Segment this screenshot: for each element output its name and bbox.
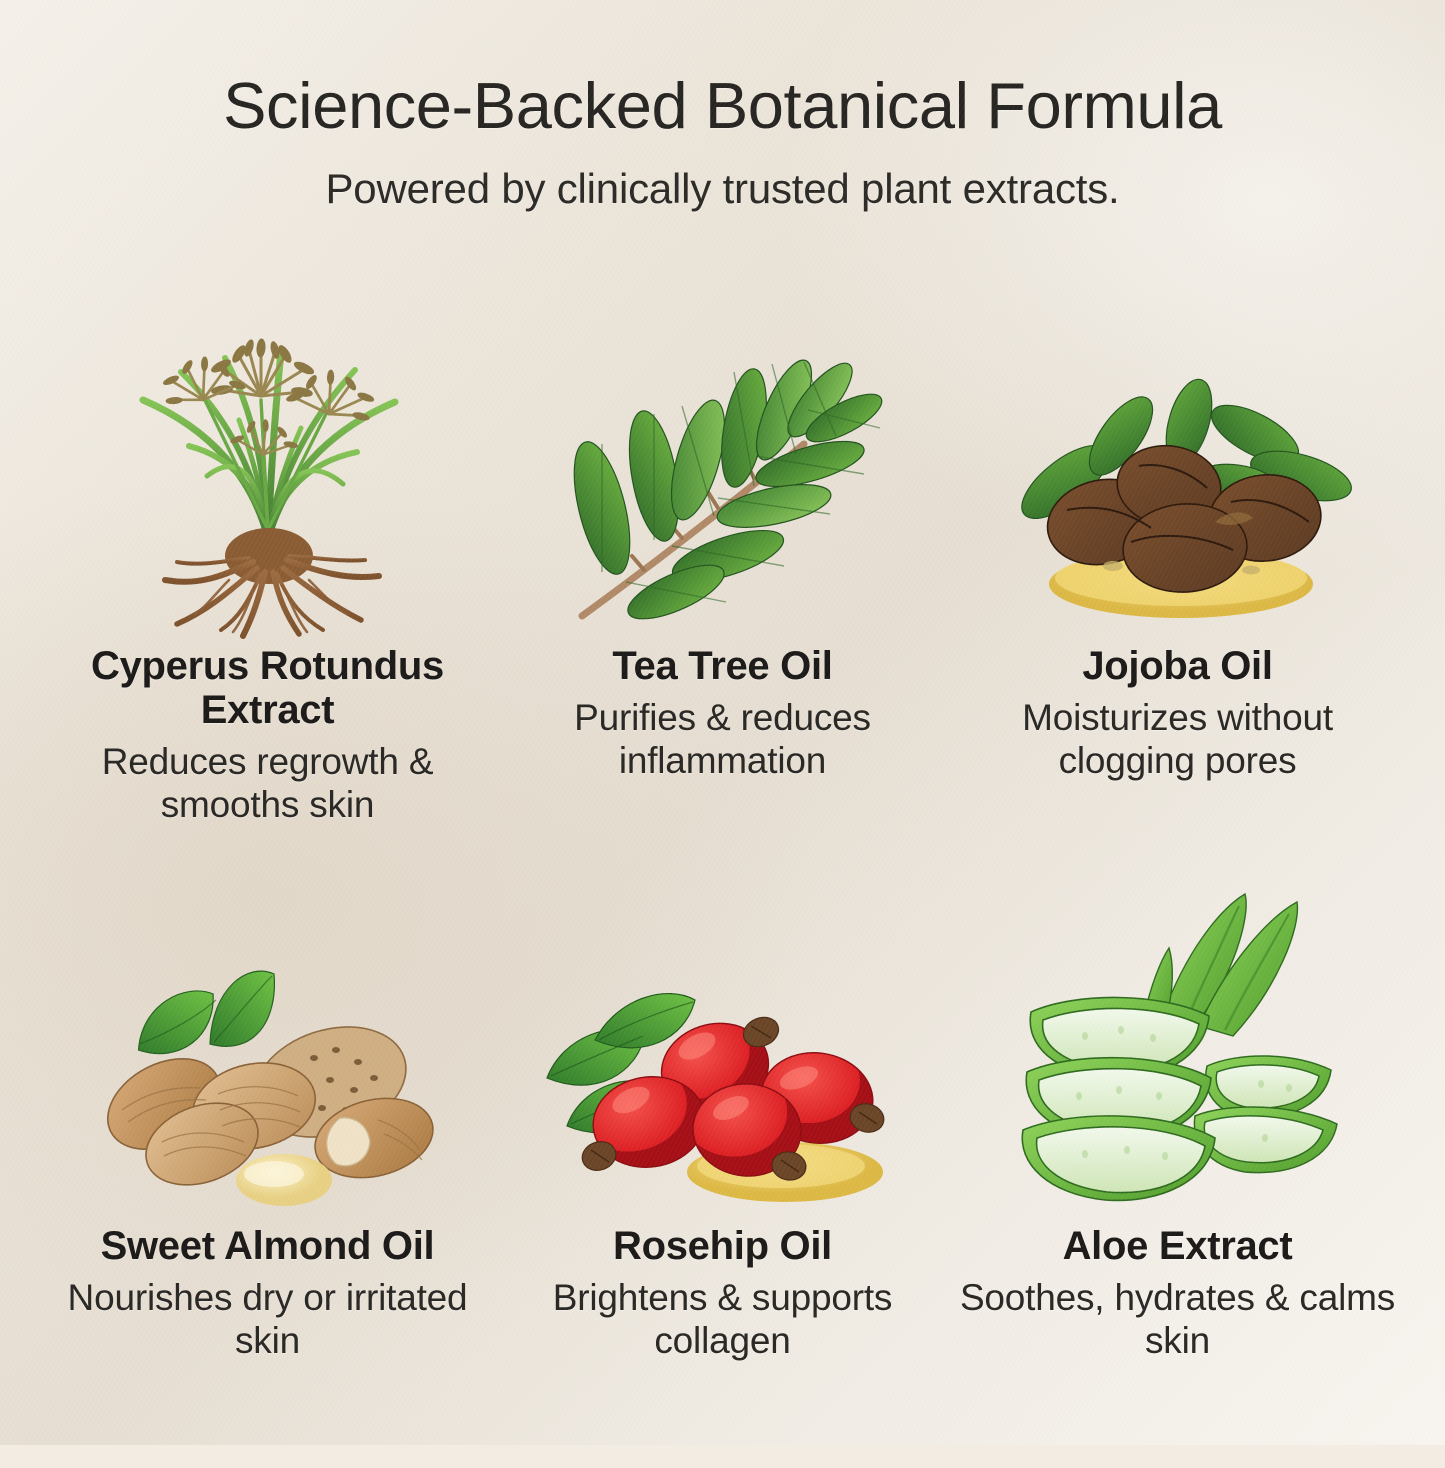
header: Science-Backed Botanical Formula Powered… [0,72,1445,213]
ingredient-card-sweet-almond-oil: Sweet Almond Oil Nourishes dry or irrita… [40,868,495,1468]
ingredient-name: Aloe Extract [1063,1224,1293,1268]
ingredient-grid: Cyperus Rotundus Extract Reduces regrowt… [40,268,1405,1468]
ingredient-name: Tea Tree Oil [612,644,832,688]
infographic-poster: Science-Backed Botanical Formula Powered… [0,0,1445,1445]
tea-tree-sprig-illustration [495,268,950,640]
ingredient-description: Reduces regrowth & smooths skin [40,740,495,827]
ingredient-description: Purifies & reduces inflammation [495,696,950,783]
page-title: Science-Backed Botanical Formula [0,72,1445,141]
ingredient-name: Sweet Almond Oil [101,1224,435,1268]
cyperus-rotundus-plant-illustration [40,268,495,640]
ingredient-description: Brightens & supports collagen [495,1276,950,1363]
jojoba-seeds-illustration [950,268,1405,640]
ingredient-card-cyperus-rotundus: Cyperus Rotundus Extract Reduces regrowt… [40,268,495,868]
ingredient-card-rosehip-oil: Rosehip Oil Brightens & supports collage… [495,868,950,1468]
ingredient-card-jojoba-oil: Jojoba Oil Moisturizes without clogging … [950,268,1405,868]
ingredient-name: Cyperus Rotundus Extract [40,644,495,732]
ingredient-name: Jojoba Oil [1082,644,1272,688]
ingredient-card-aloe-extract: Aloe Extract Soothes, hydrates & calms s… [950,868,1405,1468]
ingredient-description: Moisturizes without clogging pores [950,696,1405,783]
ingredient-description: Nourishes dry or irritated skin [40,1276,495,1363]
almonds-illustration [40,868,495,1220]
ingredient-card-tea-tree-oil: Tea Tree Oil Purifies & reduces inflamma… [495,268,950,868]
ingredient-description: Soothes, hydrates & calms skin [950,1276,1405,1363]
ingredient-name: Rosehip Oil [613,1224,832,1268]
aloe-vera-slices-illustration [950,868,1405,1220]
rosehip-berries-illustration [495,868,950,1220]
page-subtitle: Powered by clinically trusted plant extr… [0,165,1445,213]
